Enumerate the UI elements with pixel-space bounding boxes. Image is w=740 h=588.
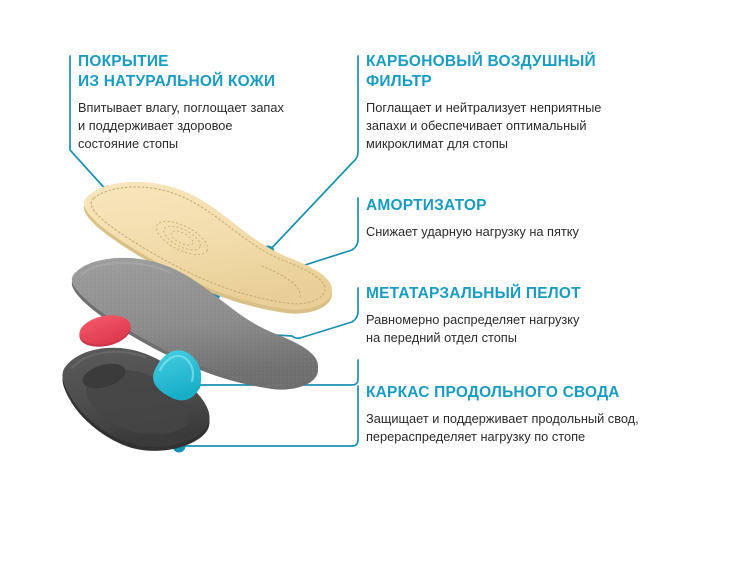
callout-body-carbon-air-filter: Поглащает и нейтрализует неприятные запа… [366,99,666,153]
callout-title-shock-absorber: АМОРТИЗАТОР [366,196,666,216]
callout-title-longitudinal-arch-frame: КАРКАС ПРОДОЛЬНОГО СВОДА [366,383,686,403]
callout-shock-absorber: АМОРТИЗАТОР Снижает ударную нагрузку на … [366,196,666,241]
callout-title-leather-cover: ПОКРЫТИЕ ИЗ НАТУРАЛЬНОЙ КОЖИ [78,52,350,92]
callout-title-carbon-air-filter: КАРБОНОВЫЙ ВОЗДУШНЫЙ ФИЛЬТР [366,52,666,92]
callout-body-leather-cover: Впитывает влагу, поглощает запах и подде… [78,99,350,153]
callout-carbon-air-filter: КАРБОНОВЫЙ ВОЗДУШНЫЙ ФИЛЬТР Поглащает и … [366,52,666,153]
insole-infographic: ПОКРЫТИЕ ИЗ НАТУРАЛЬНОЙ КОЖИ Впитывает в… [0,0,740,588]
callout-leather-cover: ПОКРЫТИЕ ИЗ НАТУРАЛЬНОЙ КОЖИ Впитывает в… [78,52,350,153]
callout-body-metatarsal-pad: Равномерно распределяет нагрузку на пере… [366,311,666,347]
callout-body-longitudinal-arch-frame: Защищает и поддерживает продольный свод,… [366,410,686,446]
callout-title-metatarsal-pad: МЕТАТАРЗАЛЬНЫЙ ПЕЛОТ [366,284,666,304]
callout-longitudinal-arch-frame: КАРКАС ПРОДОЛЬНОГО СВОДА Защищает и подд… [366,383,686,446]
callout-body-shock-absorber: Снижает ударную нагрузку на пятку [366,223,666,241]
callout-metatarsal-pad: МЕТАТАРЗАЛЬНЫЙ ПЕЛОТ Равномерно распреде… [366,284,666,347]
